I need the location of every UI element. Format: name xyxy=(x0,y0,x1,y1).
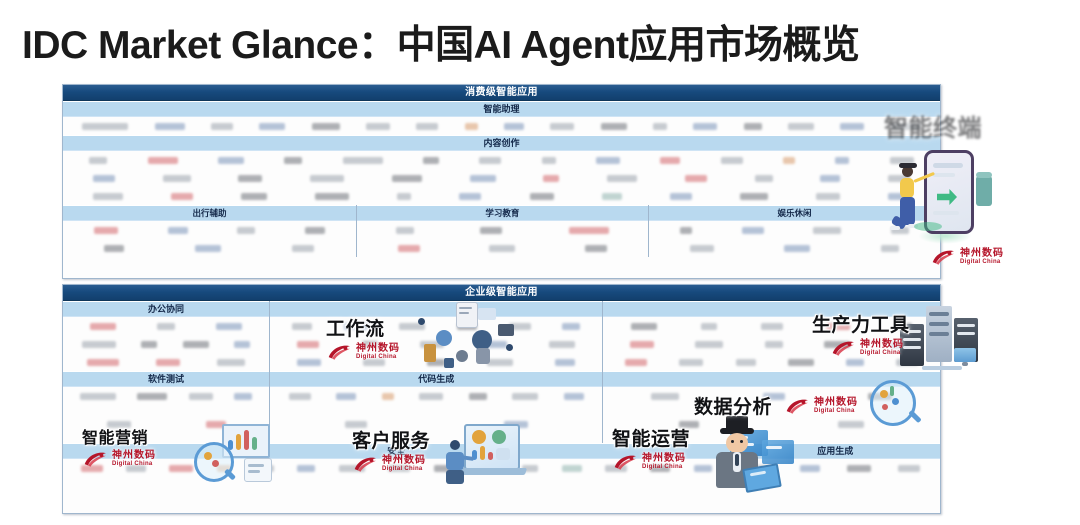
enterprise-applications-panel: 企业级智能应用 办公协同 软件测试 xyxy=(62,284,941,514)
enterprise-column-label-blank-1 xyxy=(270,301,602,317)
logo-strip xyxy=(649,239,940,257)
page-title: IDC Market Glance：中国AI Agent应用市场概览 xyxy=(22,14,860,70)
logo-strip xyxy=(63,239,356,257)
logo-strip xyxy=(63,169,940,187)
logo-strip xyxy=(603,387,940,405)
consumer-column-label-entertainment: 娱乐休闲 xyxy=(649,205,940,221)
consumer-column-group: 出行辅助 学习教育 娱乐休闲 xyxy=(63,205,940,257)
consumer-applications-panel: 消费级智能应用 智能助理 内容创作 xyxy=(62,84,941,279)
logo-strip xyxy=(270,335,602,353)
logo-strip xyxy=(270,405,602,443)
logo-strip xyxy=(63,151,940,169)
enterprise-section-header: 企业级智能应用 xyxy=(63,285,940,301)
consumer-column-travel: 出行辅助 xyxy=(63,205,356,257)
enterprise-column-label-office: 办公协同 xyxy=(63,301,269,317)
logo-strip xyxy=(603,335,940,353)
logo-strip xyxy=(603,353,940,371)
logo-strip xyxy=(63,317,269,335)
enterprise-column-label-testing: 软件测试 xyxy=(63,371,269,387)
logo-strip xyxy=(603,317,940,335)
enterprise-bottom-label-security: 安全 xyxy=(63,443,730,459)
logo-strip xyxy=(649,221,940,239)
consumer-column-entertainment: 娱乐休闲 xyxy=(648,205,940,257)
enterprise-column-workflow: 代码生成 xyxy=(269,301,602,405)
consumer-subsection-label-content: 内容创作 xyxy=(63,135,940,151)
enterprise-column-productivity xyxy=(602,301,940,405)
enterprise-bottom-band-group: 安全 应用生成 xyxy=(63,443,940,477)
consumer-column-label-education: 学习教育 xyxy=(357,205,648,221)
logo-strip xyxy=(63,353,269,371)
enterprise-bottom-label-appgen: 应用生成 xyxy=(731,443,940,459)
logo-strip xyxy=(63,221,356,239)
logo-strip xyxy=(270,387,602,405)
enterprise-lower-row xyxy=(63,405,940,443)
enterprise-lower-cell-1 xyxy=(63,405,269,443)
enterprise-bottom-band-appgen: 应用生成 xyxy=(730,443,940,477)
logo-strip xyxy=(270,353,602,371)
logo-strip xyxy=(731,459,940,477)
logo-strip xyxy=(63,459,730,477)
enterprise-bottom-band-security: 安全 xyxy=(63,443,730,477)
enterprise-column-office: 办公协同 软件测试 xyxy=(63,301,269,405)
logo-strip xyxy=(63,387,269,405)
brand-lockup-smart-terminal: 神州数码 Digital China xyxy=(930,246,1004,266)
logo-strip xyxy=(270,317,602,335)
logo-strip xyxy=(63,405,269,443)
consumer-subsection-label-assistant: 智能助理 xyxy=(63,101,940,117)
consumer-column-label-travel: 出行辅助 xyxy=(63,205,356,221)
logo-strip xyxy=(357,239,648,257)
logo-strip xyxy=(63,335,269,353)
enterprise-column-group: 办公协同 软件测试 xyxy=(63,301,940,405)
enterprise-column-label-blank-3 xyxy=(603,371,940,387)
enterprise-lower-cell-3 xyxy=(602,405,940,443)
logo-strip xyxy=(357,221,648,239)
enterprise-column-label-blank-2 xyxy=(603,301,940,317)
logo-strip xyxy=(63,187,940,205)
brand-name-cn: 神州数码 xyxy=(960,249,1004,259)
consumer-column-education: 学习教育 xyxy=(356,205,648,257)
consumer-section-header: 消费级智能应用 xyxy=(63,85,940,101)
logo-strip xyxy=(63,117,940,135)
enterprise-column-label-code: 代码生成 xyxy=(270,371,602,387)
logo-strip xyxy=(603,405,940,443)
enterprise-lower-cell-2 xyxy=(269,405,602,443)
brand-name-en: Digital China xyxy=(960,259,1004,265)
